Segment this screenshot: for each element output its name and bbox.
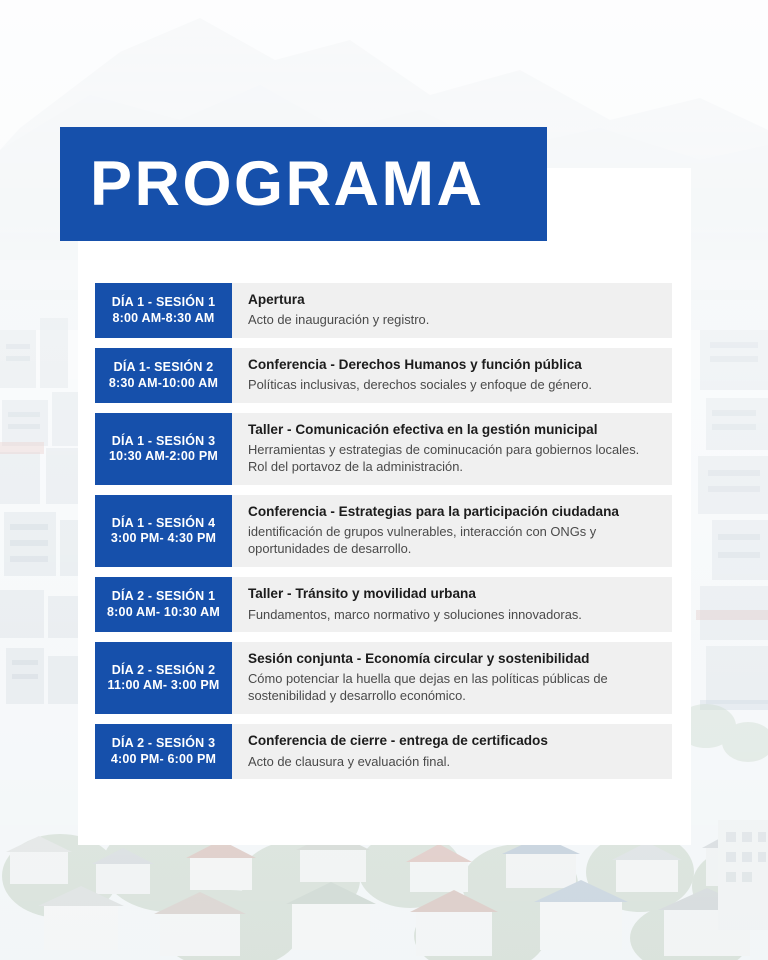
page-title: PROGRAMA <box>60 153 485 216</box>
schedule-row-title: Conferencia - Estrategias para la partic… <box>248 503 660 521</box>
schedule-row[interactable]: DÍA 2 - SESIÓN 2 11:00 AM- 3:00 PM Sesió… <box>95 642 672 714</box>
schedule-row-time: 4:00 PM- 6:00 PM <box>111 752 216 768</box>
schedule-row-badge: DÍA 1 - SESIÓN 4 3:00 PM- 4:30 PM <box>95 495 232 567</box>
schedule-row-time: 8:00 AM- 10:30 AM <box>107 605 220 621</box>
schedule-row-body: Conferencia de cierre - entrega de certi… <box>232 724 672 779</box>
schedule-row-time: 8:00 AM-8:30 AM <box>112 311 214 327</box>
schedule-row[interactable]: DÍA 2 - SESIÓN 3 4:00 PM- 6:00 PM Confer… <box>95 724 672 779</box>
schedule-row-body: Sesión conjunta - Economía circular y so… <box>232 642 672 714</box>
schedule-row-day: DÍA 2 - SESIÓN 1 <box>112 589 215 605</box>
schedule-row-day: DÍA 1- SESIÓN 2 <box>114 360 214 376</box>
schedule-row-time: 11:00 AM- 3:00 PM <box>107 678 219 694</box>
schedule-row[interactable]: DÍA 1 - SESIÓN 3 10:30 AM-2:00 PM Taller… <box>95 413 672 485</box>
program-card: DÍA 1 - SESIÓN 1 8:00 AM-8:30 AM Apertur… <box>78 168 691 845</box>
schedule-row[interactable]: DÍA 1- SESIÓN 2 8:30 AM-10:00 AM Confere… <box>95 348 672 403</box>
schedule-row[interactable]: DÍA 1 - SESIÓN 1 8:00 AM-8:30 AM Apertur… <box>95 283 672 338</box>
schedule-row-badge: DÍA 2 - SESIÓN 1 8:00 AM- 10:30 AM <box>95 577 232 632</box>
schedule-row-description: Acto de inauguración y registro. <box>248 311 660 329</box>
schedule-row-day: DÍA 1 - SESIÓN 3 <box>112 434 215 450</box>
schedule-row-title: Taller - Tránsito y movilidad urbana <box>248 585 660 603</box>
schedule-row-day: DÍA 1 - SESIÓN 1 <box>112 295 215 311</box>
schedule-row-title: Conferencia de cierre - entrega de certi… <box>248 732 660 750</box>
schedule-row-badge: DÍA 1 - SESIÓN 1 8:00 AM-8:30 AM <box>95 283 232 338</box>
schedule-row-title: Sesión conjunta - Economía circular y so… <box>248 650 660 668</box>
schedule-row-time: 10:30 AM-2:00 PM <box>109 449 218 465</box>
schedule-row-description: identificación de grupos vulnerables, in… <box>248 523 660 559</box>
title-banner: PROGRAMA <box>60 127 547 241</box>
schedule-row-body: Apertura Acto de inauguración y registro… <box>232 283 672 338</box>
schedule-row-badge: DÍA 2 - SESIÓN 2 11:00 AM- 3:00 PM <box>95 642 232 714</box>
schedule-row-day: DÍA 2 - SESIÓN 3 <box>112 736 215 752</box>
schedule-row-badge: DÍA 1- SESIÓN 2 8:30 AM-10:00 AM <box>95 348 232 403</box>
schedule-row-description: Herramientas y estrategias de cominucaci… <box>248 441 660 477</box>
schedule-row-time: 8:30 AM-10:00 AM <box>109 376 218 392</box>
schedule-row-day: DÍA 2 - SESIÓN 2 <box>112 663 215 679</box>
schedule-row-body: Conferencia - Estrategias para la partic… <box>232 495 672 567</box>
schedule-row-description: Cómo potenciar la huella que dejas en la… <box>248 670 660 706</box>
schedule-row-description: Fundamentos, marco normativo y solucione… <box>248 606 660 624</box>
schedule-row-body: Taller - Comunicación efectiva en la ges… <box>232 413 672 485</box>
schedule-row[interactable]: DÍA 1 - SESIÓN 4 3:00 PM- 4:30 PM Confer… <box>95 495 672 567</box>
schedule-row-description: Políticas inclusivas, derechos sociales … <box>248 376 660 394</box>
schedule-row-body: Conferencia - Derechos Humanos y función… <box>232 348 672 403</box>
schedule-row-title: Apertura <box>248 291 660 309</box>
schedule-row-day: DÍA 1 - SESIÓN 4 <box>112 516 215 532</box>
schedule-row-body: Taller - Tránsito y movilidad urbana Fun… <box>232 577 672 632</box>
schedule-row-badge: DÍA 1 - SESIÓN 3 10:30 AM-2:00 PM <box>95 413 232 485</box>
schedule-row-time: 3:00 PM- 4:30 PM <box>111 531 216 547</box>
schedule-row[interactable]: DÍA 2 - SESIÓN 1 8:00 AM- 10:30 AM Talle… <box>95 577 672 632</box>
schedule-list: DÍA 1 - SESIÓN 1 8:00 AM-8:30 AM Apertur… <box>95 283 672 789</box>
schedule-row-badge: DÍA 2 - SESIÓN 3 4:00 PM- 6:00 PM <box>95 724 232 779</box>
schedule-row-title: Conferencia - Derechos Humanos y función… <box>248 356 660 374</box>
schedule-row-title: Taller - Comunicación efectiva en la ges… <box>248 421 660 439</box>
schedule-row-description: Acto de clausura y evaluación final. <box>248 753 660 771</box>
